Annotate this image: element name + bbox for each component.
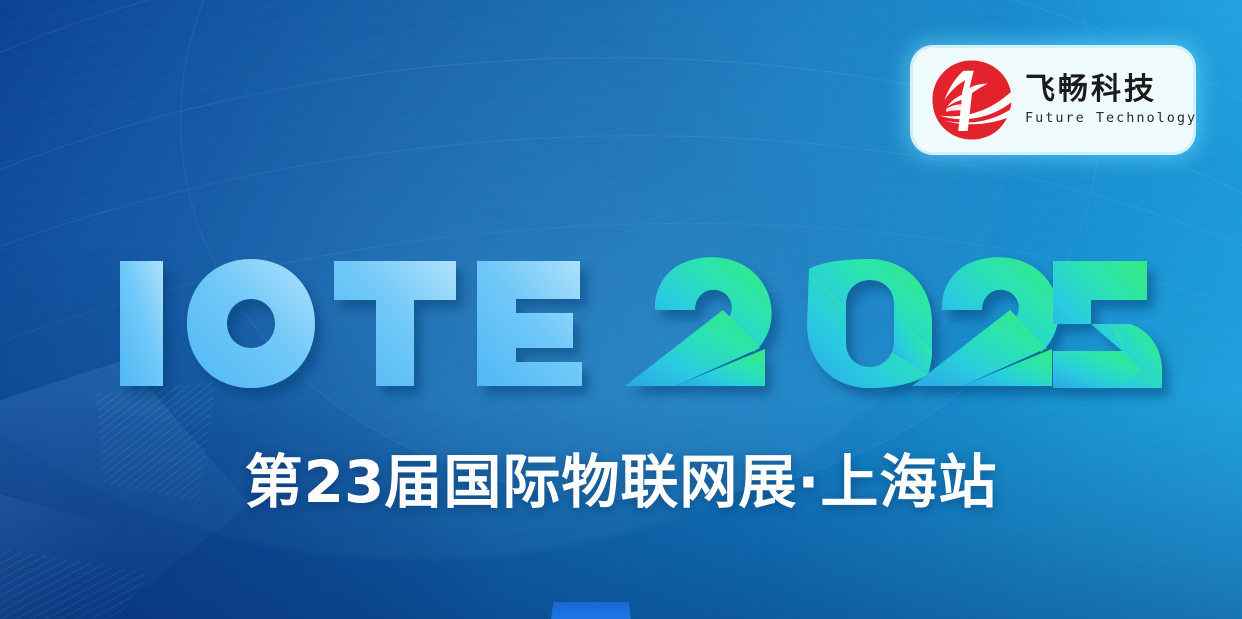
subtitle-prefix: 第 xyxy=(245,448,304,516)
company-logo-plate: 飞畅科技 Future Technology xyxy=(913,48,1193,152)
company-logo-text: 飞畅科技 Future Technology xyxy=(1025,74,1197,127)
company-name-cn: 飞畅科技 xyxy=(1025,74,1197,106)
event-subtitle: 第23届国际物联网展·上海站 xyxy=(0,452,1242,513)
wordmark-year xyxy=(625,257,1162,388)
wordmark-iote xyxy=(120,259,582,388)
iote-2025-banner: 飞畅科技 Future Technology xyxy=(0,0,1242,619)
wordmark-svg xyxy=(112,248,1102,400)
subtitle-separator: · xyxy=(797,448,820,516)
iote-2025-wordmark xyxy=(112,248,1102,400)
subtitle-middle: 届国际物联网展 xyxy=(384,448,797,516)
background-shard-lines-2 xyxy=(0,545,150,619)
company-name-en: Future Technology xyxy=(1025,110,1197,126)
feichang-red-circle-logo-icon xyxy=(929,57,1015,143)
bottom-cropped-tab xyxy=(551,602,631,619)
subtitle-edition-number: 23 xyxy=(304,448,385,516)
subtitle-city: 上海站 xyxy=(820,448,997,516)
